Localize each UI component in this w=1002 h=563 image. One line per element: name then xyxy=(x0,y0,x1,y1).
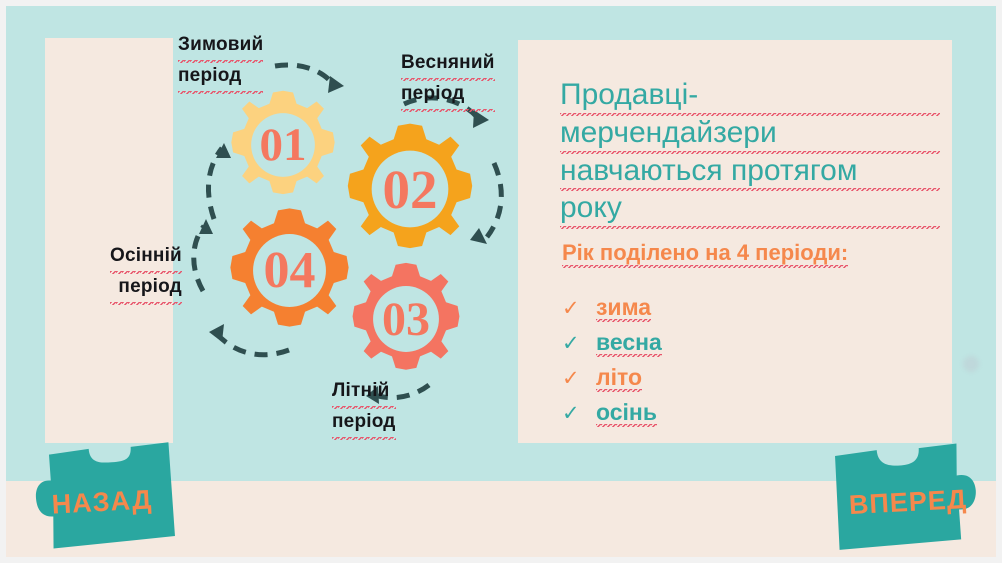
gear-01-icon xyxy=(224,86,342,204)
list-item-label: осінь xyxy=(596,401,657,427)
list-item-label: весна xyxy=(596,331,662,357)
headline-line-3: навчаються протягом xyxy=(560,154,940,192)
list-item: ✓ весна xyxy=(562,331,922,357)
subheading: Рік поділено на 4 періоди: xyxy=(562,240,962,266)
gear-label-summer: Літній період xyxy=(332,378,396,440)
puzzle-piece-icon xyxy=(828,441,988,551)
puzzle-piece-icon xyxy=(22,441,182,551)
gear-03-icon xyxy=(345,258,467,380)
gear-02: 02 xyxy=(339,118,481,260)
gear-label-autumn-line2: період xyxy=(110,274,182,305)
headline-line-4: року xyxy=(560,191,940,229)
slide-canvas: Зимовий період Весняний період Осінній п… xyxy=(0,0,1002,563)
list-item-label: літо xyxy=(596,366,642,392)
forward-button[interactable]: ВПЕРЕД xyxy=(828,441,988,551)
gear-label-summer-line1: Літній xyxy=(332,378,396,409)
gear-label-spring: Весняний період xyxy=(401,50,495,112)
gear-label-winter-line2: період xyxy=(178,63,263,94)
headline: Продавці- мерчендайзери навчаються протя… xyxy=(560,78,940,229)
headline-line-1: Продавці- xyxy=(560,78,940,116)
left-beige-panel xyxy=(45,38,173,443)
background-artifact xyxy=(963,356,979,372)
gear-02-icon xyxy=(339,118,481,260)
list-item-label: зима xyxy=(596,296,651,322)
back-button[interactable]: НАЗАД xyxy=(22,441,182,551)
list-item: ✓ зима xyxy=(562,296,922,322)
gear-label-winter: Зимовий період xyxy=(178,32,263,94)
gear-label-spring-line1: Весняний xyxy=(401,50,495,81)
gear-04: 04 xyxy=(222,203,357,338)
subheading-text: Рік поділено на 4 періоди: xyxy=(562,240,848,268)
gear-label-autumn: Осінній період xyxy=(110,243,182,305)
gear-label-summer-line2: період xyxy=(332,409,396,440)
headline-line-2: мерчендайзери xyxy=(560,116,940,154)
season-list: ✓ зима ✓ весна ✓ літо ✓ осінь xyxy=(562,296,922,436)
gear-04-icon xyxy=(222,203,357,338)
gear-03: 03 xyxy=(345,258,467,380)
gear-label-spring-line2: період xyxy=(401,81,495,112)
check-icon: ✓ xyxy=(562,333,596,354)
gear-01: 01 xyxy=(224,86,342,204)
check-icon: ✓ xyxy=(562,368,596,389)
list-item: ✓ осінь xyxy=(562,401,922,427)
list-item: ✓ літо xyxy=(562,366,922,392)
gear-label-winter-line1: Зимовий xyxy=(178,32,263,63)
gear-label-autumn-line1: Осінній xyxy=(110,243,182,274)
check-icon: ✓ xyxy=(562,298,596,319)
check-icon: ✓ xyxy=(562,403,596,424)
